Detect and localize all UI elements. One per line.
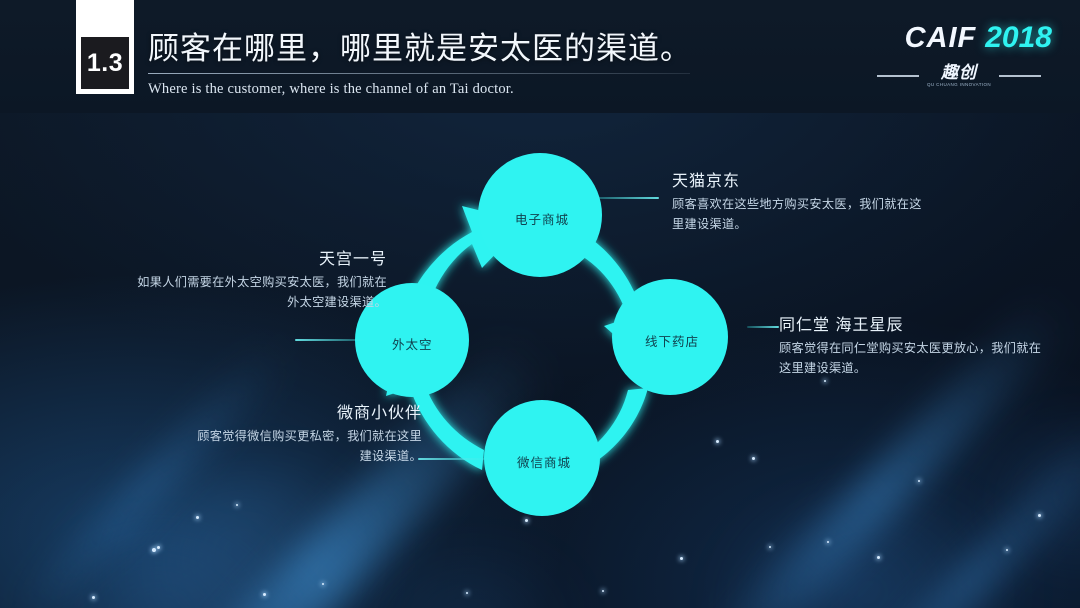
background-star xyxy=(827,541,829,543)
callout-pharmacy-title: 同仁堂 海王星辰 xyxy=(779,311,1047,335)
page-subtitle: Where is the customer, where is the chan… xyxy=(148,81,514,98)
callout-wechat-title: 微商小伙伴 xyxy=(190,399,422,423)
section-number-badge: 1.3 xyxy=(81,37,129,89)
connector-line-wechat xyxy=(418,458,490,460)
callout-tmall: 天猫京东 顾客喜欢在这些地方购买安太医，我们就在这里建设渠道。 xyxy=(672,167,932,235)
background-star xyxy=(263,593,266,596)
logo-brand-text: CAIF xyxy=(905,22,977,55)
callout-wechat: 微商小伙伴 顾客觉得微信购买更私密，我们就在这里建设渠道。 xyxy=(190,399,422,467)
logo-cn-tagline-text: QU CHUANG INNOVATION xyxy=(927,83,991,88)
callout-pharmacy-body: 顾客觉得在同仁堂购买安太医更放心，我们就在这里建设渠道。 xyxy=(779,339,1047,379)
node-label-wechat: 微信商城 xyxy=(517,452,571,471)
background-star xyxy=(769,546,771,548)
connector-line-pharmacy xyxy=(747,326,779,328)
page-title: 顾客在哪里，哪里就是安太医的渠道。 xyxy=(148,23,692,68)
background-star xyxy=(466,592,468,594)
logo-subline: 趣创 QU CHUANG INNOVATION xyxy=(866,61,1052,91)
logo-dash-left-icon xyxy=(877,75,919,77)
background-star xyxy=(877,556,880,559)
node-label-space: 外太空 xyxy=(392,334,433,353)
logo-chinese-name: 趣创 QU CHUANG INNOVATION xyxy=(927,64,991,88)
background-star xyxy=(322,583,324,585)
callout-tmall-body: 顾客喜欢在这些地方购买安太医，我们就在这里建设渠道。 xyxy=(672,195,932,235)
callout-space: 天宫一号 如果人们需要在外太空购买安太医，我们就在外太空建设渠道。 xyxy=(137,245,387,313)
background-star xyxy=(152,548,156,552)
background-star xyxy=(752,457,755,460)
background-star xyxy=(824,380,826,382)
background-star xyxy=(1006,549,1008,551)
background-star xyxy=(680,557,683,560)
background-star xyxy=(157,546,160,549)
node-label-pharmacy: 线下药店 xyxy=(645,331,699,350)
background-star xyxy=(918,480,920,482)
background-star xyxy=(196,516,199,519)
callout-pharmacy: 同仁堂 海王星辰 顾客觉得在同仁堂购买安太医更放心，我们就在这里建设渠道。 xyxy=(779,311,1047,379)
callout-wechat-body: 顾客觉得微信购买更私密，我们就在这里建设渠道。 xyxy=(190,427,422,467)
background-star xyxy=(1038,514,1041,517)
logo-cn-main-text: 趣创 xyxy=(941,64,977,81)
node-label-ecommerce: 电子商城 xyxy=(515,209,569,228)
background-star xyxy=(236,504,238,506)
callout-space-title: 天宫一号 xyxy=(137,245,387,269)
callout-space-body: 如果人们需要在外太空购买安太医，我们就在外太空建设渠道。 xyxy=(137,273,387,313)
logo-year-text: 2018 xyxy=(985,21,1052,55)
callout-tmall-title: 天猫京东 xyxy=(672,167,932,191)
background-star xyxy=(92,596,95,599)
connector-line-space xyxy=(295,339,365,341)
slide-header: 1.3 顾客在哪里，哪里就是安太医的渠道。 Where is the custo… xyxy=(0,0,1080,113)
title-divider xyxy=(148,73,690,74)
background-star xyxy=(602,590,604,592)
connector-line-tmall xyxy=(593,197,659,199)
logo-wordmark: CAIF 2018 xyxy=(866,18,1052,58)
slide-canvas: 1.3 顾客在哪里，哪里就是安太医的渠道。 Where is the custo… xyxy=(0,0,1080,608)
caif-logo: CAIF 2018 趣创 QU CHUANG INNOVATION xyxy=(866,18,1052,92)
logo-dash-right-icon xyxy=(999,75,1041,77)
